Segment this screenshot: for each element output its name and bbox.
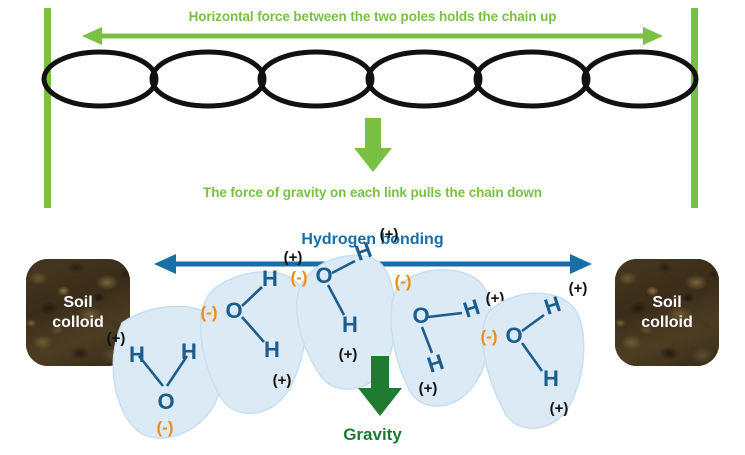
gravity-label: Gravity <box>0 425 745 445</box>
water-molecule-chain: H H O (+) (+) (-) O H H (-) (+) (+) O H … <box>0 225 745 455</box>
soil-colloid-right-label: Soil colloid <box>641 293 693 331</box>
atom-h: H <box>264 337 280 362</box>
soil-right-line1: Soil <box>652 294 681 311</box>
atom-h: H <box>342 312 358 337</box>
atom-o: O <box>157 389 174 414</box>
atom-h: H <box>262 266 278 291</box>
atom-o: O <box>315 263 332 288</box>
charge-negative: (-) <box>481 327 498 346</box>
atom-o: O <box>505 323 522 348</box>
chain-gravity-arrow <box>352 118 394 174</box>
soil-left-line2: colloid <box>52 314 104 331</box>
charge-positive: (+) <box>107 330 126 347</box>
soil-right-line2: colloid <box>641 314 693 331</box>
charge-positive: (+) <box>284 249 303 266</box>
gravity-arrow <box>357 356 403 418</box>
atom-o: O <box>412 303 429 328</box>
chain-links <box>40 48 700 110</box>
charge-negative: (-) <box>291 268 308 287</box>
charge-positive: (+) <box>569 280 588 297</box>
charge-negative: (-) <box>395 272 412 291</box>
charge-positive: (+) <box>339 346 358 363</box>
caption-horizontal-force: Horizontal force between the two poles h… <box>0 9 745 24</box>
atom-h: H <box>181 339 197 364</box>
soil-colloid-left-label: Soil colloid <box>52 293 104 331</box>
atom-h: H <box>129 342 145 367</box>
charge-positive: (+) <box>380 226 399 243</box>
atom-h: H <box>543 366 559 391</box>
soil-left-line1: Soil <box>63 294 92 311</box>
charge-positive: (+) <box>419 380 438 397</box>
charge-positive: (+) <box>550 400 569 417</box>
caption-gravity-chain: The force of gravity on each link pulls … <box>0 185 745 200</box>
charge-positive: (+) <box>273 372 292 389</box>
diagram-canvas: Horizontal force between the two poles h… <box>0 0 745 455</box>
horizontal-force-arrow <box>80 25 665 47</box>
charge-negative: (-) <box>201 303 218 322</box>
atom-o: O <box>225 298 242 323</box>
